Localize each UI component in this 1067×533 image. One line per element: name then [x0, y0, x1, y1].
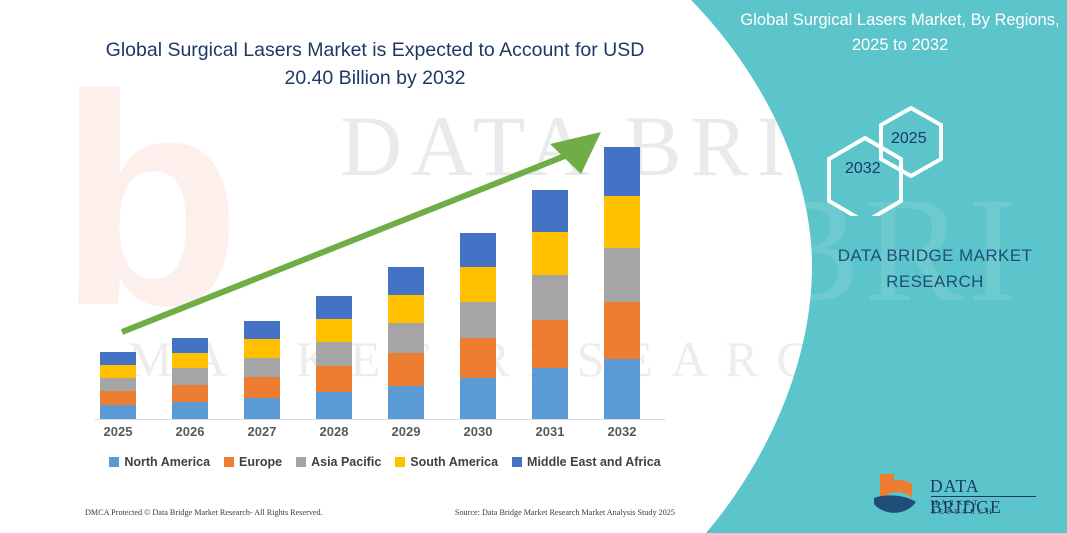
- infographic-canvas: b DATA BRIDGE MARKET RESEARCH Global Sur…: [0, 0, 1067, 533]
- hexagon-shapes: [810, 96, 1000, 216]
- legend-label: North America: [124, 455, 210, 469]
- legend-label: Asia Pacific: [311, 455, 381, 469]
- logo-mark-icon: [870, 472, 926, 520]
- legend-item: Asia Pacific: [296, 455, 381, 469]
- x-axis-label-2027: 2027: [232, 424, 292, 439]
- company-logo: DATA BRIDGE MARKET RESEARCH: [870, 472, 1040, 522]
- hexagon-2025-label: 2025: [891, 130, 927, 148]
- x-axis-label-2031: 2031: [520, 424, 580, 439]
- footer: DMCA Protected © Data Bridge Market Rese…: [85, 508, 675, 517]
- legend-label: Europe: [239, 455, 282, 469]
- legend-label: South America: [410, 455, 498, 469]
- legend-swatch-icon: [512, 457, 522, 467]
- legend-swatch-icon: [395, 457, 405, 467]
- x-axis-label-2028: 2028: [304, 424, 364, 439]
- trend-arrow: [80, 110, 680, 420]
- footer-copyright: DMCA Protected © Data Bridge Market Rese…: [85, 508, 323, 517]
- legend-item: North America: [109, 455, 210, 469]
- x-axis-label-2032: 2032: [592, 424, 652, 439]
- brand-name: DATA BRIDGE MARKET RESEARCH: [790, 243, 1067, 295]
- footer-source: Source: Data Bridge Market Research Mark…: [455, 508, 675, 517]
- legend-swatch-icon: [109, 457, 119, 467]
- x-axis-label-2030: 2030: [448, 424, 508, 439]
- page-title: Global Surgical Lasers Market is Expecte…: [95, 36, 655, 92]
- legend-label: Middle East and Africa: [527, 455, 661, 469]
- logo-secondary-text: MARKET RESEARCH: [931, 498, 1040, 516]
- hexagon-2032-label: 2032: [845, 160, 881, 178]
- x-axis-label-2029: 2029: [376, 424, 436, 439]
- logo-divider: [931, 496, 1036, 497]
- legend-item: South America: [395, 455, 498, 469]
- chart-legend: North AmericaEuropeAsia PacificSouth Ame…: [95, 455, 675, 469]
- legend-swatch-icon: [296, 457, 306, 467]
- x-axis-labels: 20252026202720282029203020312032: [80, 424, 680, 444]
- x-axis-label-2026: 2026: [160, 424, 220, 439]
- legend-item: Europe: [224, 455, 282, 469]
- hexagon-badges: 2025 2032: [810, 96, 1000, 216]
- x-axis-label-2025: 2025: [88, 424, 148, 439]
- legend-item: Middle East and Africa: [512, 455, 661, 469]
- panel-title: Global Surgical Lasers Market, By Region…: [740, 8, 1060, 58]
- legend-swatch-icon: [224, 457, 234, 467]
